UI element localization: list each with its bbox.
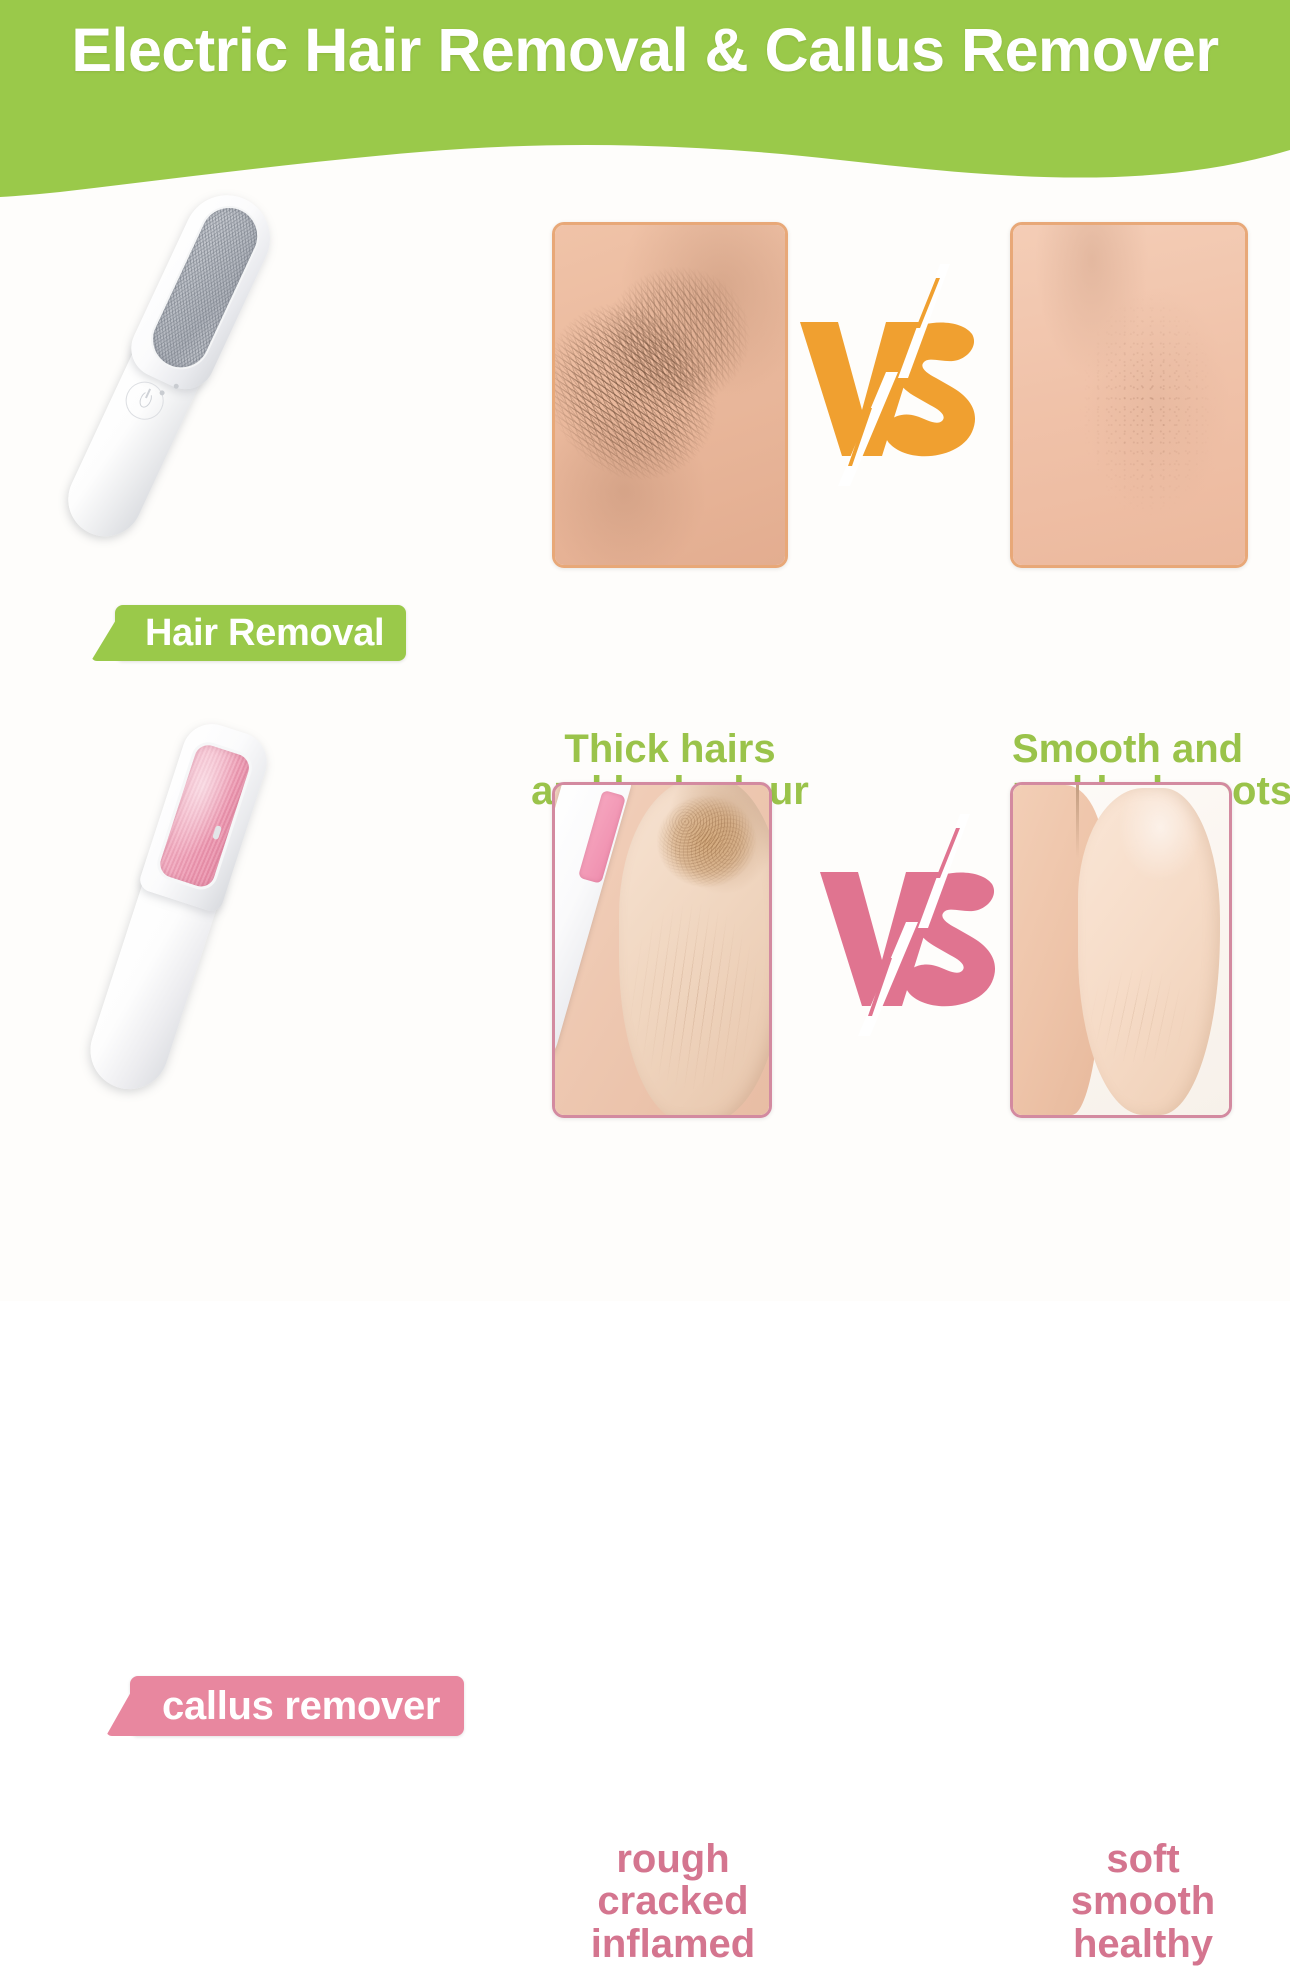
caption-line-3: inflamed: [591, 1922, 755, 1966]
smooth-healthy-feet-photo: [1010, 782, 1232, 1118]
caption-line-3: healthy: [1073, 1922, 1213, 1966]
caption-line-1: rough: [616, 1837, 729, 1881]
device-head: [137, 716, 274, 914]
vs-icon: [810, 810, 1010, 1040]
electric-hair-removal-device: [28, 170, 328, 570]
caption-line-2: smooth: [1071, 1879, 1215, 1923]
vs-badge-orange: [790, 260, 990, 490]
caption-line-2: cracked: [597, 1879, 748, 1923]
vs-icon: [790, 260, 990, 490]
device-body: [72, 715, 277, 1105]
shaver-foil-mesh: [144, 199, 267, 377]
page-title: Electric Hair Removal & Callus Remover: [0, 18, 1290, 82]
caption-soft-smooth-healthy: soft smooth healthy: [1028, 1838, 1258, 1965]
badge-hair-removal-label: Hair Removal: [145, 612, 384, 655]
badge-callus-remover-label: callus remover: [162, 1684, 440, 1729]
device-body: [50, 181, 284, 553]
vs-badge-pink: [810, 810, 1010, 1040]
toe-gap: [1076, 785, 1079, 858]
section-hair-removal: Hair Removal: [0, 150, 1290, 670]
hairy-underarm-photo: [552, 222, 788, 568]
badge-hair-removal: Hair Removal: [115, 605, 406, 661]
heel-crack-lines: [628, 904, 761, 1089]
sole-shape: [1078, 788, 1221, 1115]
smooth-underarm-photo: [1010, 222, 1248, 568]
badge-callus-remover: callus remover: [130, 1676, 464, 1736]
pore-texture: [1078, 286, 1217, 524]
rough-cracked-heel-photo: [552, 782, 772, 1118]
device-head: [122, 181, 284, 399]
electric-callus-remover-device: [28, 710, 348, 1110]
section-callus-remover: callus remover: [0, 700, 1290, 1300]
caption-line-1: soft: [1106, 1837, 1179, 1881]
caption-rough-cracked-inflamed: rough cracked inflamed: [548, 1838, 798, 1965]
sole-crease-lines: [1091, 970, 1186, 1062]
pink-abrasive-roller: [157, 742, 253, 891]
